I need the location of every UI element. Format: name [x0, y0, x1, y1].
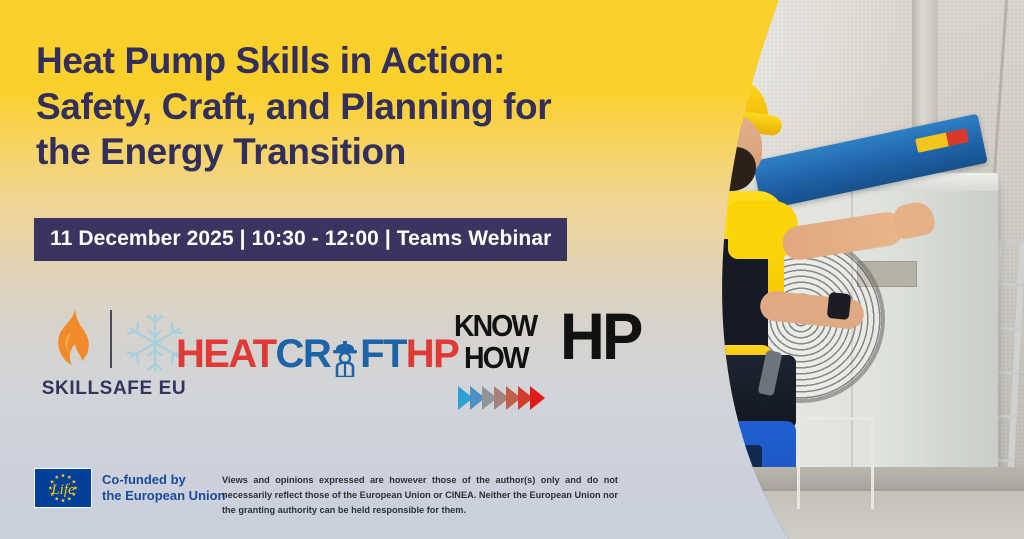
eu-funding-line-2: the European Union: [102, 488, 226, 504]
chevron-7: [530, 386, 545, 410]
knowhow-big-hp: HP: [560, 304, 641, 369]
eu-flag-icon: Life: [34, 468, 92, 508]
title-line-3: the Energy Transition: [36, 129, 676, 175]
eu-funding-block: Life Co-funded by the European Union: [34, 468, 226, 508]
heatcraft-segment-hp: HP: [406, 332, 458, 377]
logo-divider: [110, 310, 112, 368]
flame-icon: [48, 308, 98, 375]
disclaimer-text: Views and opinions expressed are however…: [222, 473, 618, 518]
title-line-2: Safety, Craft, and Planning for: [36, 84, 676, 130]
logo-heatcraft-hp: HEAT CR FT HP: [176, 332, 458, 377]
metal-rail: [871, 417, 874, 509]
unit-warning-label: [915, 128, 969, 153]
partner-logo-row: SKILLSAFE EU HEAT CR FT HP KNOW: [30, 296, 630, 416]
heatcraft-segment-ft: FT: [360, 332, 406, 377]
knowhow-line-how: HOW: [464, 340, 528, 376]
eu-funding-line-1: Co-funded by: [102, 472, 226, 488]
title-line-1: Heat Pump Skills in Action:: [36, 38, 676, 84]
heatcraft-segment-cr: CR: [276, 332, 331, 377]
webinar-promo-banner: Heat Pump Skills in Action: Safety, Craf…: [0, 0, 1024, 539]
page-title: Heat Pump Skills in Action: Safety, Craf…: [36, 38, 676, 175]
event-details-banner: 11 December 2025 | 10:30 - 12:00 | Teams…: [34, 218, 567, 261]
wrist-watch: [827, 292, 852, 320]
logo-skillsafe-eu: SKILLSAFE EU: [34, 304, 194, 404]
logo-skillsafe-label: SKILLSAFE EU: [34, 378, 194, 400]
heatcraft-segment-heat: HEAT: [176, 332, 276, 377]
knowhow-line-know: KNOW: [454, 308, 536, 344]
svg-text:Life: Life: [50, 482, 75, 498]
knowhow-wordmark: KNOW HOW HP: [452, 302, 628, 386]
worker-helmet-icon: [330, 337, 360, 377]
eu-funding-label: Co-funded by the European Union: [102, 472, 226, 505]
chevron-strip: [458, 386, 542, 410]
logo-knowhow-hp: KNOW HOW HP: [452, 298, 628, 414]
